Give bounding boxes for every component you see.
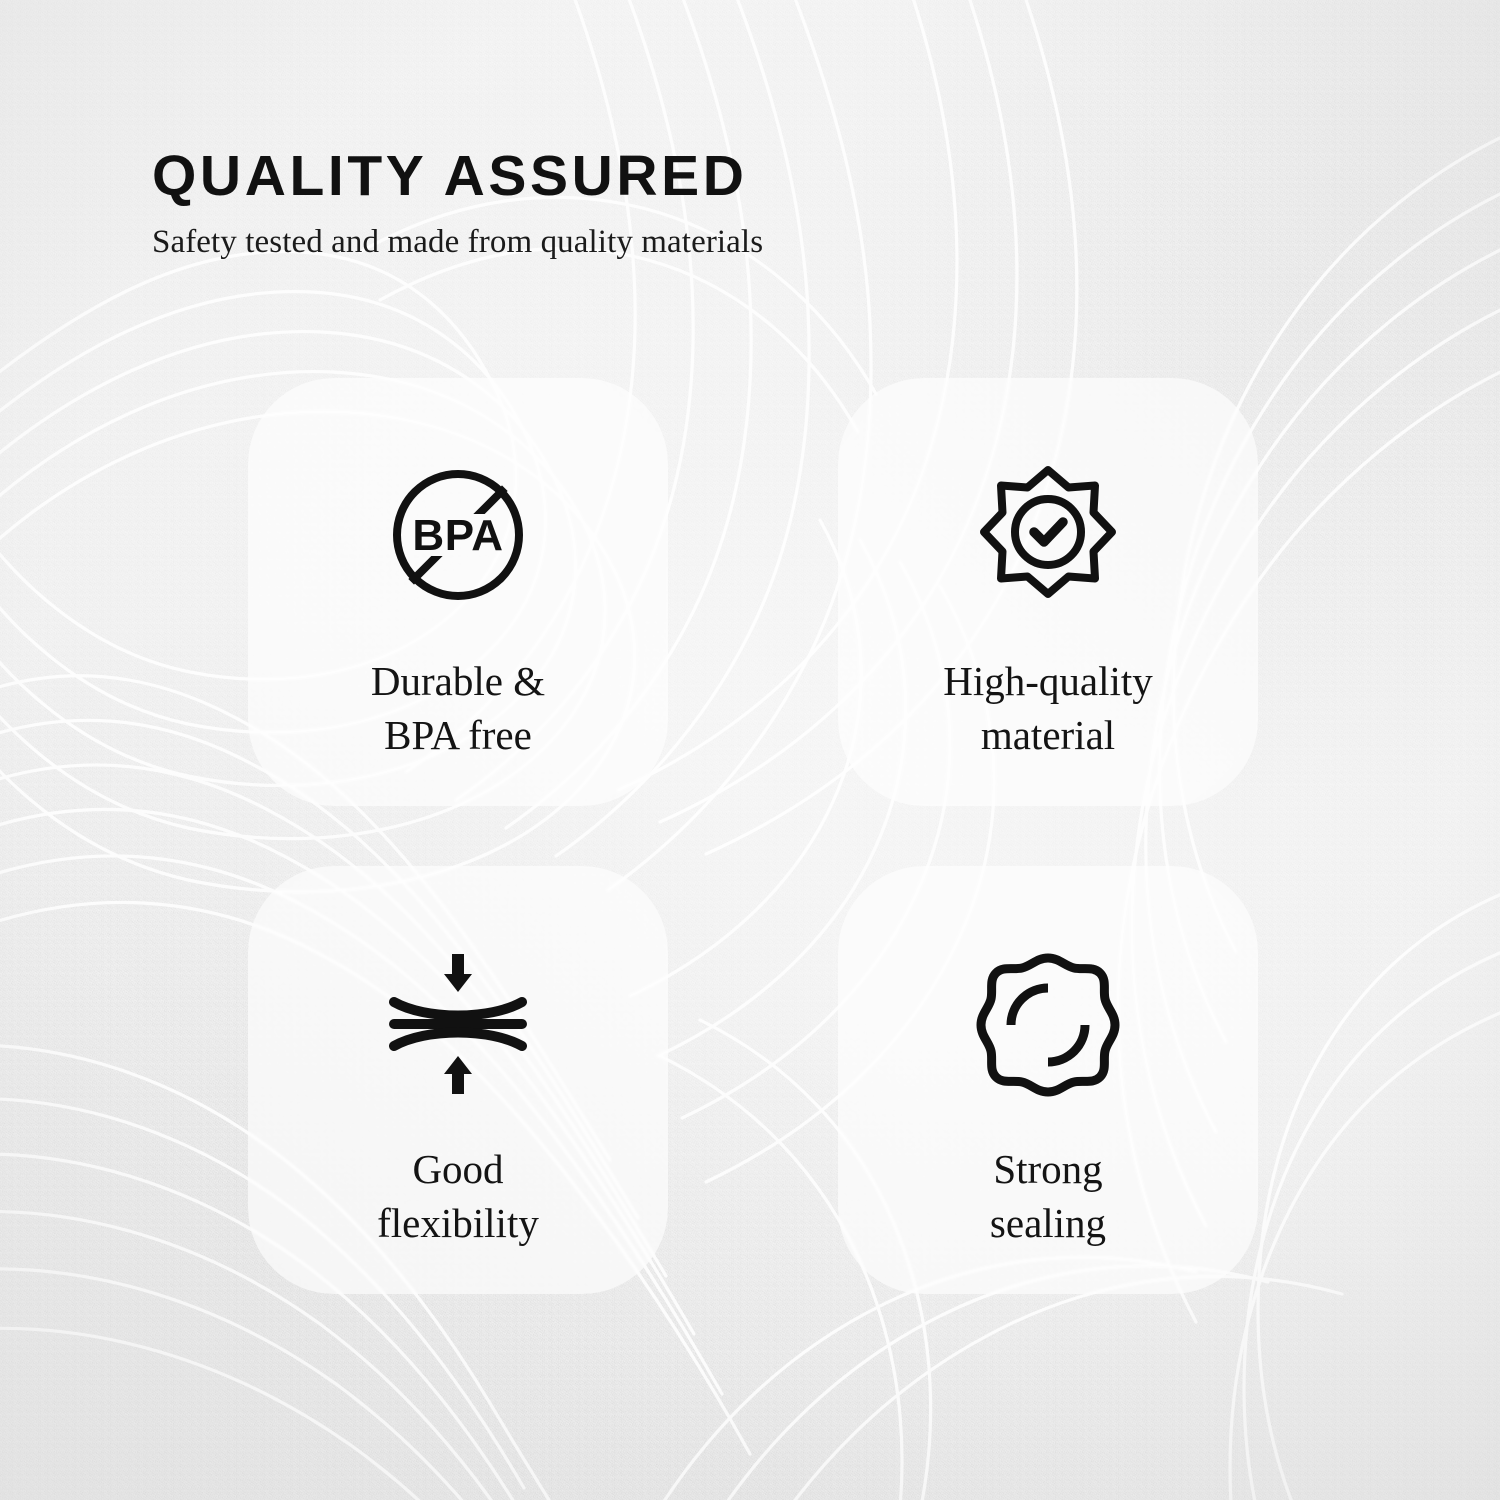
no-bpa-icon: BPA	[383, 450, 533, 620]
feature-card-strong-sealing: Strong sealing	[838, 866, 1258, 1294]
feature-card-grid: BPA Durable & BPA free High-quality mate…	[248, 378, 1258, 1294]
flexibility-arrows-icon	[378, 938, 538, 1108]
feature-card-durable-bpa-free: BPA Durable & BPA free	[248, 378, 668, 806]
feature-card-label: Good flexibility	[377, 1142, 539, 1250]
svg-text:BPA: BPA	[412, 511, 503, 560]
seal-rosette-icon	[973, 938, 1123, 1108]
header: QUALITY ASSURED Safety tested and made f…	[152, 148, 1272, 259]
feature-card-high-quality-material: High-quality material	[838, 378, 1258, 806]
quality-badge-check-icon	[973, 450, 1123, 620]
feature-card-good-flexibility: Good flexibility	[248, 866, 668, 1294]
feature-card-label: Strong sealing	[990, 1142, 1106, 1250]
page-title: QUALITY ASSURED	[152, 148, 1272, 205]
feature-card-label: Durable & BPA free	[371, 654, 545, 762]
feature-card-label: High-quality material	[943, 654, 1153, 762]
page-subtitle: Safety tested and made from quality mate…	[152, 226, 1272, 259]
quality-assured-infographic: QUALITY ASSURED Safety tested and made f…	[0, 0, 1500, 1500]
